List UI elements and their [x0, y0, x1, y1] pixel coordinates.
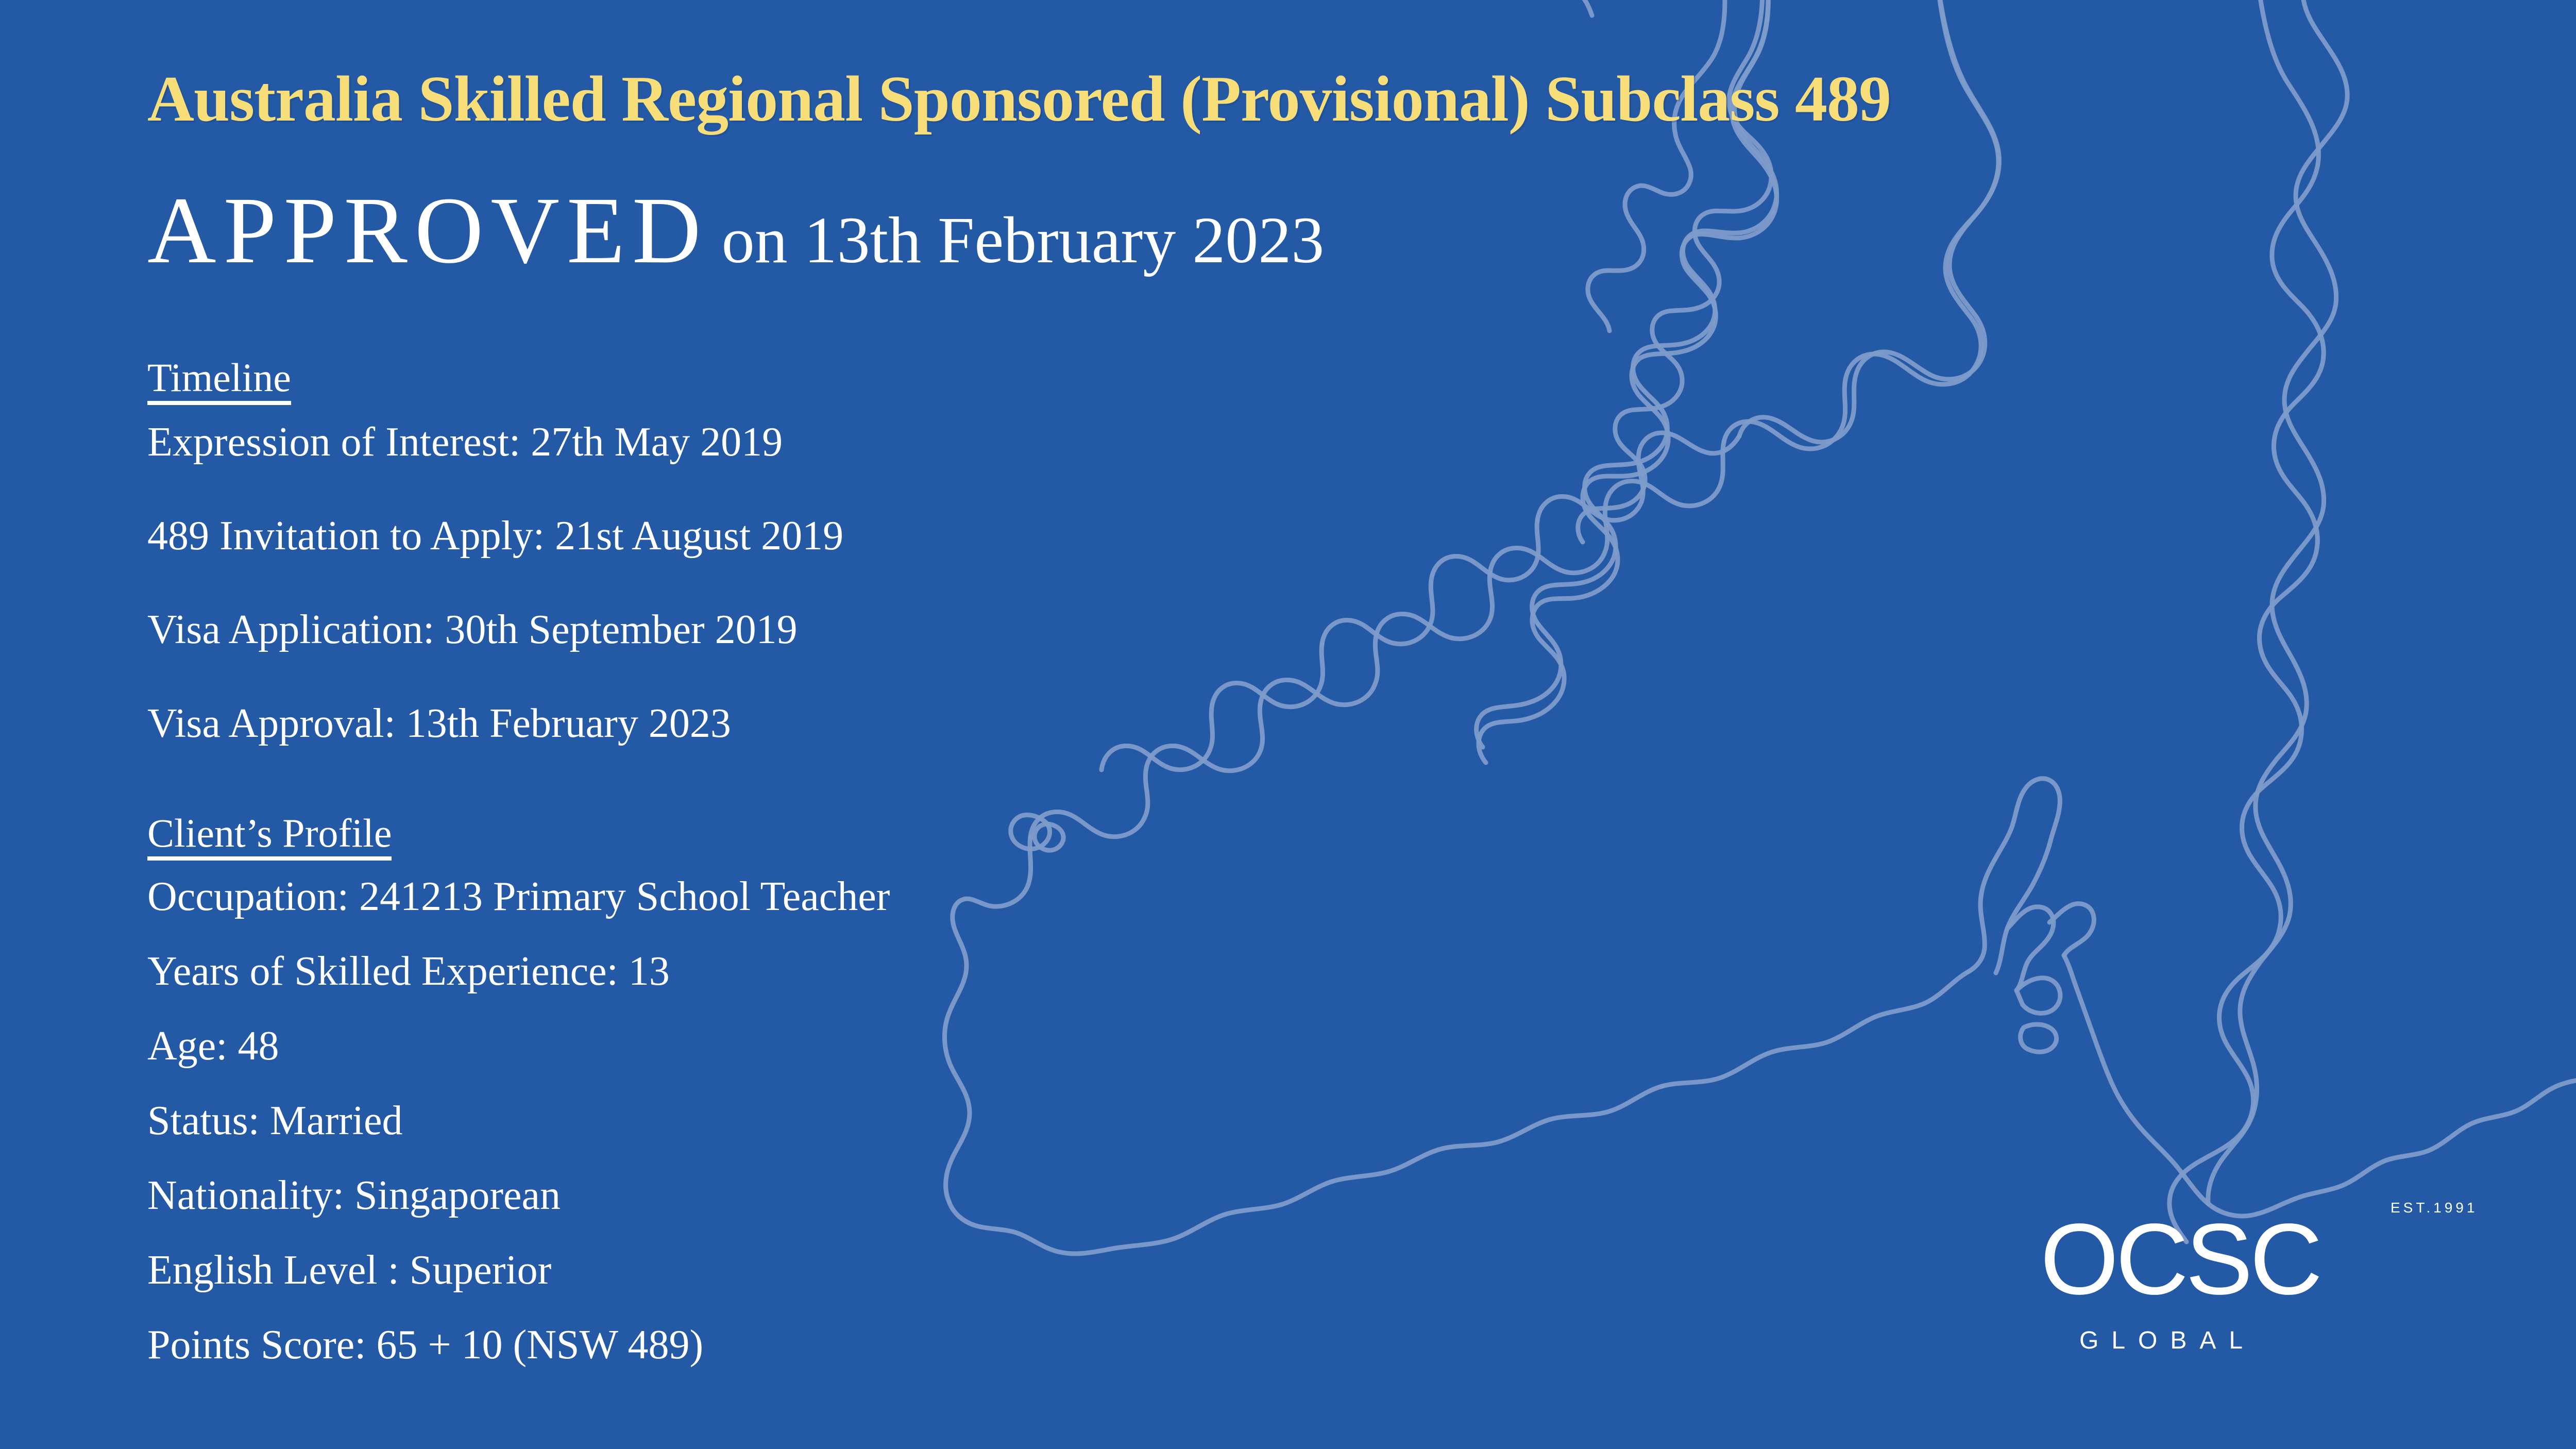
profile-entry-experience: Years of Skilled Experience: 13	[147, 951, 670, 992]
visa-approval-poster: Australia Skilled Regional Sponsored (Pr…	[0, 0, 2576, 1449]
timeline-heading: Timeline	[147, 358, 291, 405]
timeline-entry-eoi: Expression of Interest: 27th May 2019	[147, 422, 783, 463]
timeline-entry-invitation: 489 Invitation to Apply: 21st August 201…	[147, 515, 843, 557]
profile-heading: Client’s Profile	[147, 813, 392, 861]
status-badge: APPROVED	[147, 178, 708, 283]
logo-subtitle: GLOBAL	[2079, 1328, 2256, 1353]
profile-entry-english: English Level : Superior	[147, 1250, 551, 1291]
approval-status: APPROVEDon 13th February 2023	[147, 183, 1324, 278]
logo-established-text: EST.1991	[2391, 1201, 2478, 1215]
profile-entry-points: Points Score: 65 + 10 (NSW 489)	[147, 1324, 703, 1366]
profile-entry-age: Age: 48	[147, 1025, 279, 1067]
timeline-entry-approval: Visa Approval: 13th February 2023	[147, 703, 731, 744]
profile-entry-status: Status: Married	[147, 1100, 402, 1141]
profile-entry-occupation: Occupation: 241213 Primary School Teache…	[147, 876, 890, 917]
profile-entry-nationality: Nationality: Singaporean	[147, 1175, 561, 1216]
ocsc-global-logo: OCSC GLOBAL EST.1991	[2040, 1195, 2545, 1402]
logo-wordmark: OCSC	[2040, 1209, 2319, 1310]
approval-date: on 13th February 2023	[722, 204, 1325, 277]
timeline-entry-application: Visa Application: 30th September 2019	[147, 609, 798, 650]
page-title: Australia Skilled Regional Sponsored (Pr…	[147, 67, 1891, 132]
